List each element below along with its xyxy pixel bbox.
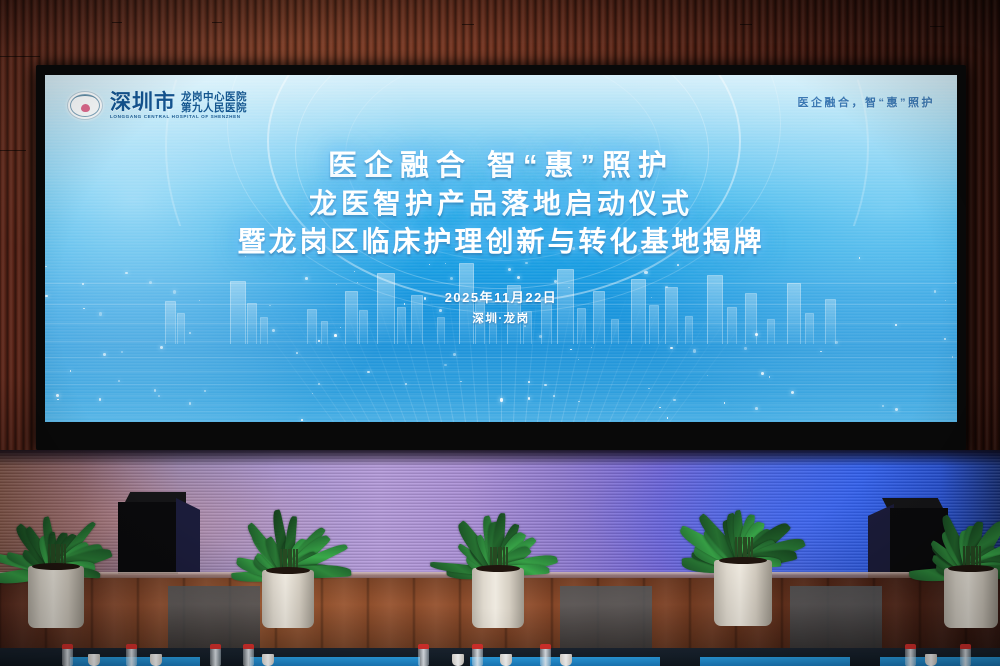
potted-plant: [14, 474, 130, 628]
stage-back-shadow: [0, 450, 1000, 466]
wall-seam: [0, 56, 40, 57]
bottle-cap: [62, 644, 73, 649]
water-bottle[interactable]: [418, 648, 429, 666]
event-date: 2025年11月22日: [45, 287, 957, 306]
event-location: 深圳·龙岗: [45, 310, 957, 326]
table-cloth: [250, 657, 420, 666]
potted-plant: [458, 479, 570, 628]
bottle-cap: [210, 644, 221, 649]
hospital-logo: 深圳市 龙岗中心医院 第九人民医院 LONGGANG CENTRAL HOSPI…: [67, 91, 247, 120]
hospital-seal-emblem: [67, 91, 103, 120]
paper-cup[interactable]: [560, 654, 572, 666]
table-cloth: [880, 657, 1000, 666]
wall-seam: [112, 22, 122, 23]
plant-pot: [262, 570, 314, 628]
paper-cup[interactable]: [500, 654, 512, 666]
plant-foliage: [930, 478, 1000, 572]
wall-seam: [0, 150, 26, 151]
wall-seam: [740, 24, 752, 25]
bottle-cap: [905, 644, 916, 649]
pot-soil: [948, 565, 993, 572]
bottle-cap: [418, 644, 429, 649]
plant-foliage: [14, 474, 130, 570]
water-bottle[interactable]: [210, 648, 221, 666]
bottle-cap: [960, 644, 971, 649]
event-meta-block: 2025年11月22日 深圳·龙岗: [45, 287, 957, 326]
led-screen[interactable]: 深圳市 龙岗中心医院 第九人民医院 LONGGANG CENTRAL HOSPI…: [45, 75, 957, 422]
water-bottle[interactable]: [960, 648, 971, 666]
table-cloth: [700, 657, 850, 666]
pot-soil: [476, 565, 520, 572]
wall-seam: [462, 24, 474, 25]
plant-foliage: [248, 483, 360, 574]
logo-city-name: 深圳市: [110, 92, 176, 113]
bottle-cap: [243, 644, 254, 649]
water-bottle[interactable]: [243, 648, 254, 666]
water-bottle[interactable]: [472, 648, 483, 666]
paper-cup[interactable]: [925, 654, 937, 666]
plant-pot: [714, 560, 772, 626]
pot-soil: [32, 563, 79, 570]
conference-hall-photo: 深圳市 龙岗中心医院 第九人民医院 LONGGANG CENTRAL HOSPI…: [0, 0, 1000, 666]
wall-seam: [212, 22, 222, 23]
wall-seam: [930, 26, 944, 27]
bottle-cap: [126, 644, 137, 649]
plant-pot: [28, 566, 84, 628]
plant-foliage: [700, 463, 818, 564]
potted-plant: [248, 483, 360, 628]
water-bottle[interactable]: [126, 648, 137, 666]
title-line-3: 暨龙岗区临床护理创新与转化基地揭牌: [45, 226, 957, 257]
seal-arc: [73, 95, 97, 106]
paper-cup[interactable]: [150, 654, 162, 666]
bottle-cap: [472, 644, 483, 649]
logo-english-name: LONGGANG CENTRAL HOSPITAL OF SHENZHEN: [110, 114, 247, 119]
water-bottle[interactable]: [905, 648, 916, 666]
event-title-block: 医企融合 智“惠”照护 龙医智护产品落地启动仪式 暨龙岗区临床护理创新与转化基地…: [45, 151, 957, 257]
paper-cup[interactable]: [452, 654, 464, 666]
header-slogan: 医企融合，智“惠”照护: [798, 94, 936, 110]
pot-soil: [719, 557, 768, 564]
paper-cup[interactable]: [262, 654, 274, 666]
title-line-2: 龙医智护产品落地启动仪式: [45, 188, 957, 219]
title-line-1: 医企融合 智“惠”照护: [45, 151, 957, 182]
stage-monitor-speaker-left: [118, 492, 200, 574]
paper-cup[interactable]: [88, 654, 100, 666]
plant-pot: [944, 568, 998, 628]
water-bottle[interactable]: [540, 648, 551, 666]
water-bottle[interactable]: [62, 648, 73, 666]
bottle-cap: [540, 644, 551, 649]
plant-foliage: [458, 479, 570, 572]
logo-hospital-line1: 龙岗中心医院: [181, 92, 247, 103]
pot-soil: [266, 567, 310, 574]
potted-plant: [930, 478, 1000, 628]
potted-plant: [700, 463, 818, 626]
logo-hospital-line2: 第九人民医院: [181, 103, 247, 114]
plant-pot: [472, 568, 524, 628]
